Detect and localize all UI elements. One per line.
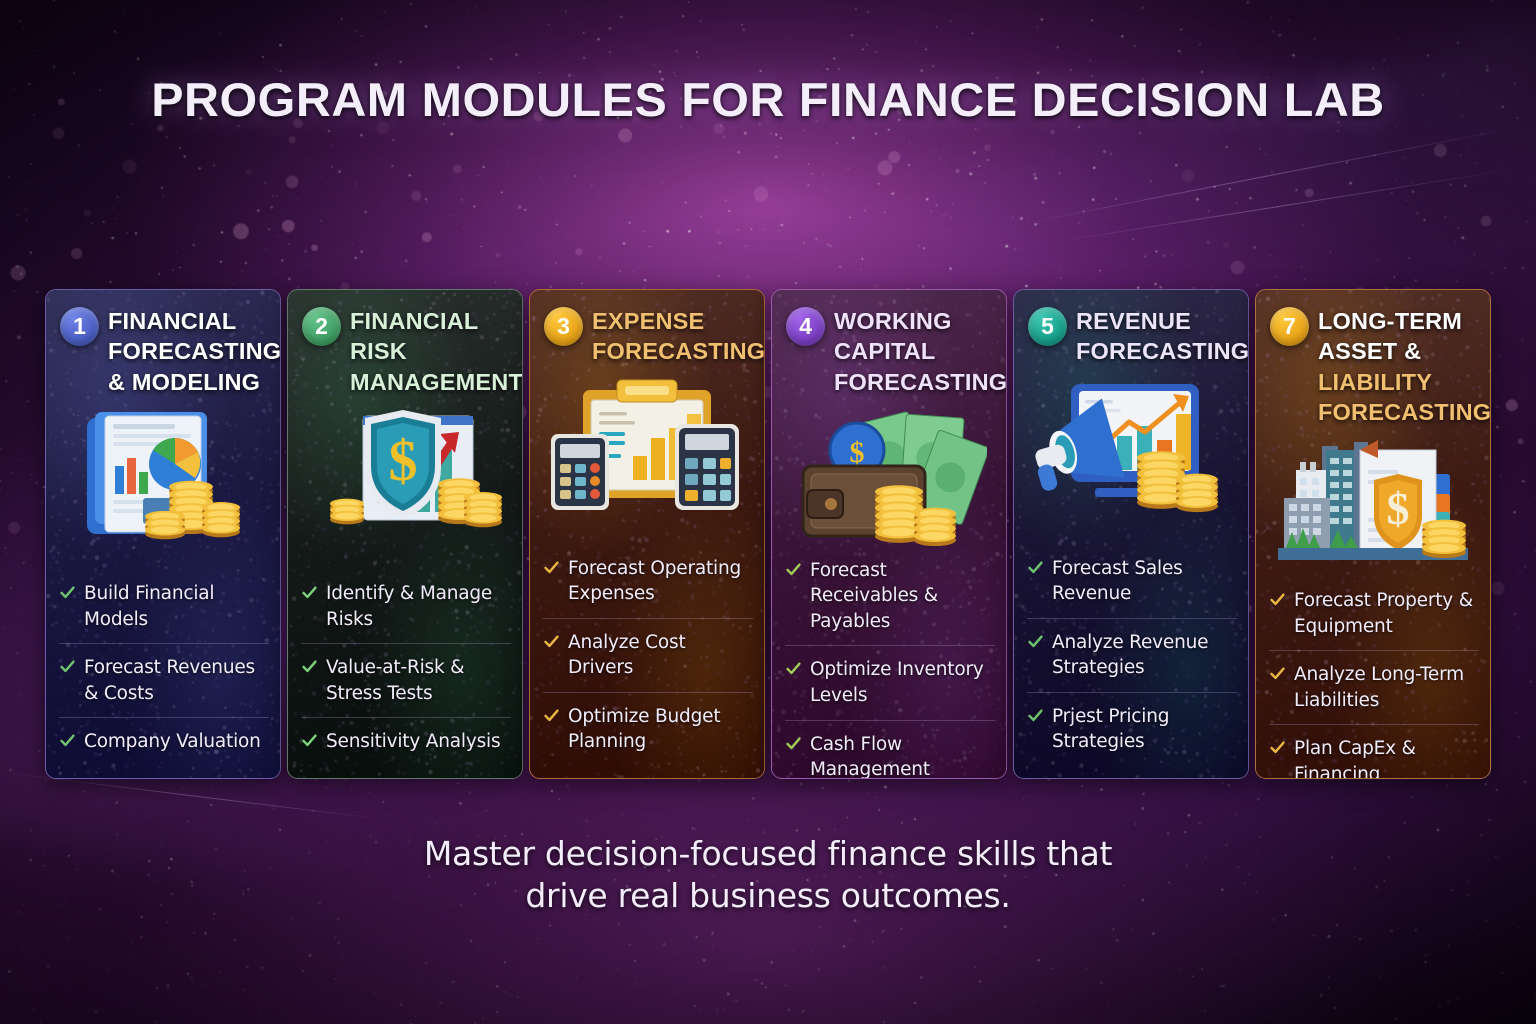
feature-label: Cash Flow Management <box>810 732 995 779</box>
card-title: WORKINGCAPITALFORECASTING <box>834 306 1007 397</box>
check-icon <box>1027 559 1044 576</box>
card-title-line-1: WORKING <box>834 306 1007 336</box>
feature-list-item: Build Financial Models <box>59 570 269 643</box>
footer-line-2: drive real business outcomes. <box>0 875 1536 917</box>
feature-label: Analyze Revenue Strategies <box>1052 630 1237 681</box>
card-title-line-2: FORECASTING <box>1076 336 1249 366</box>
feature-label: Analyze Long-Term Liabilities <box>1294 662 1479 713</box>
check-icon <box>1027 633 1044 650</box>
card-title-line-1: EXPENSE <box>592 306 765 336</box>
check-icon <box>785 735 802 752</box>
megaphone-monitor-coins-icon <box>1014 375 1248 517</box>
feature-list-item: Company Valuation <box>59 717 269 766</box>
module-number-badge: 4 <box>786 307 825 346</box>
card-title: LONG-TERMASSET &LIABILITYFORECASTING <box>1318 306 1491 427</box>
feature-list-item: Forecast Property & Equipment <box>1269 577 1479 650</box>
feature-list: Forecast Sales RevenueAnalyze Revenue St… <box>1014 545 1248 778</box>
card-content: 4WORKINGCAPITALFORECASTING $ Forecast Re <box>772 290 1006 778</box>
card-title-line-2: ASSET & <box>1318 336 1491 366</box>
card-title: EXPENSEFORECASTING <box>592 306 765 367</box>
module-card-3[interactable]: 3EXPENSEFORECASTING <box>529 289 765 779</box>
feature-list-item: Cash Flow Management <box>785 720 995 779</box>
feature-list-item: Identify & Manage Risks <box>301 570 511 643</box>
module-card-4[interactable]: 4WORKINGCAPITALFORECASTING $ Forecast Re <box>771 289 1007 779</box>
card-title-line-4: FORECASTING <box>1318 397 1491 427</box>
feature-label: Forecast Revenues & Costs <box>84 655 269 706</box>
check-icon <box>1269 665 1286 682</box>
card-content: 5REVENUEFORECASTING <box>1014 290 1248 778</box>
card-title-line-2: CAPITAL <box>834 336 1007 366</box>
module-number-badge: 1 <box>60 307 99 346</box>
card-title-line-2: RISK <box>350 336 523 366</box>
card-title-line-2: FORECASTING <box>592 336 765 366</box>
check-icon <box>785 660 802 677</box>
feature-list: Identify & Manage RisksValue-at-Risk & S… <box>288 570 522 778</box>
card-header: 7LONG-TERMASSET &LIABILITYFORECASTING <box>1256 290 1490 431</box>
feature-list: Forecast Receivables & PayablesOptimize … <box>772 547 1006 779</box>
feature-list: Forecast Operating ExpensesAnalyze Cost … <box>530 545 764 778</box>
feature-list-item: Forecast Receivables & Payables <box>785 547 995 646</box>
card-content: 1FINANCIALFORECASTING& MODELING Build Fi… <box>46 290 280 778</box>
module-number-badge: 2 <box>302 307 341 346</box>
check-icon <box>301 732 318 749</box>
card-title-line-3: & MODELING <box>108 367 281 397</box>
card-title-line-3: MANAGEMENT <box>350 367 523 397</box>
feature-list-item: Optimize Budget Planning <box>543 692 753 766</box>
feature-label: Forecast Receivables & Payables <box>810 558 995 635</box>
feature-list-item: Value-at-Risk & Stress Tests <box>301 643 511 717</box>
check-icon <box>59 732 76 749</box>
check-icon <box>785 561 802 578</box>
module-card-7[interactable]: 7LONG-TERMASSET &LIABILITYFORECASTING <box>1255 289 1491 779</box>
feature-list-item: Analyze Long-Term Liabilities <box>1269 650 1479 724</box>
card-title-line-3: LIABILITY <box>1318 367 1491 397</box>
card-title-line-1: LONG-TERM <box>1318 306 1491 336</box>
svg-text:$: $ <box>389 428 418 493</box>
card-header: 4WORKINGCAPITALFORECASTING <box>772 290 1006 401</box>
check-icon <box>1269 739 1286 756</box>
check-icon <box>59 584 76 601</box>
feature-label: Forecast Property & Equipment <box>1294 588 1479 639</box>
footer-line-1: Master decision-focused finance skills t… <box>0 833 1536 875</box>
check-icon <box>301 658 318 675</box>
feature-list-item: Forecast Operating Expenses <box>543 545 753 618</box>
card-header: 5REVENUEFORECASTING <box>1014 290 1248 371</box>
feature-label: Optimize Inventory Levels <box>810 657 995 708</box>
card-title-line-3: FORECASTING <box>834 367 1007 397</box>
module-card-2[interactable]: 2FINANCIALRISKMANAGEMENT $ Identify & Ma… <box>287 289 523 779</box>
card-title-line-1: REVENUE <box>1076 306 1249 336</box>
feature-list-item: Prjest Pricing Strategies <box>1027 692 1237 766</box>
feature-list-item: Forecast Sales Revenue <box>1027 545 1237 618</box>
module-number-badge: 3 <box>544 307 583 346</box>
wallet-cash-coins-icon: $ <box>772 405 1006 547</box>
feature-label: Company Valuation <box>84 729 261 755</box>
card-title: REVENUEFORECASTING <box>1076 306 1249 367</box>
check-icon <box>543 633 560 650</box>
buildings-deed-shield-icon: $ <box>1256 435 1490 577</box>
feature-list-item: Optimize Inventory Levels <box>785 645 995 719</box>
feature-list-item: Sensitivity Analysis <box>301 717 511 766</box>
shield-dollar-chart-icon: $ <box>288 405 522 547</box>
clipboard-calculators-icon <box>530 375 764 517</box>
feature-list: Forecast Property & EquipmentAnalyze Lon… <box>1256 577 1490 779</box>
module-cards-row: 1FINANCIALFORECASTING& MODELING Build Fi… <box>45 289 1491 779</box>
feature-label: Sensitivity Analysis <box>326 729 500 755</box>
card-content: 7LONG-TERMASSET &LIABILITYFORECASTING <box>1256 290 1490 778</box>
module-card-5[interactable]: 5REVENUEFORECASTING <box>1013 289 1249 779</box>
svg-text:$: $ <box>1387 483 1410 534</box>
card-title: FINANCIALFORECASTING& MODELING <box>108 306 281 397</box>
feature-label: Plan CapEx & Financing <box>1294 736 1479 779</box>
card-title-line-1: FINANCIAL <box>350 306 523 336</box>
feature-label: Analyze Cost Drivers <box>568 630 753 681</box>
page-title: PROGRAM MODULES FOR FINANCE DECISION LAB <box>0 72 1536 127</box>
card-content: 3EXPENSEFORECASTING <box>530 290 764 778</box>
feature-list-item: Analyze Cost Drivers <box>543 618 753 692</box>
module-number-badge: 5 <box>1028 307 1067 346</box>
feature-label: Forecast Sales Revenue <box>1052 556 1237 607</box>
card-header: 2FINANCIALRISKMANAGEMENT <box>288 290 522 401</box>
card-title: FINANCIALRISKMANAGEMENT <box>350 306 523 397</box>
feature-label: Identify & Manage Risks <box>326 581 511 632</box>
check-icon <box>1027 707 1044 724</box>
check-icon <box>59 658 76 675</box>
feature-list-item: Analyze Revenue Strategies <box>1027 618 1237 692</box>
module-number-badge: 7 <box>1270 307 1309 346</box>
check-icon <box>1269 591 1286 608</box>
feature-label: Value-at-Risk & Stress Tests <box>326 655 511 706</box>
card-title-line-2: FORECASTING <box>108 336 281 366</box>
check-icon <box>543 559 560 576</box>
svg-text:$: $ <box>850 436 865 469</box>
footer-tagline: Master decision-focused finance skills t… <box>0 833 1536 917</box>
card-header: 1FINANCIALFORECASTING& MODELING <box>46 290 280 401</box>
module-card-1[interactable]: 1FINANCIALFORECASTING& MODELING Build Fi… <box>45 289 281 779</box>
card-content: 2FINANCIALRISKMANAGEMENT $ Identify & Ma… <box>288 290 522 778</box>
feature-list-item: Forecast Revenues & Costs <box>59 643 269 717</box>
check-icon <box>543 707 560 724</box>
feature-label: Prjest Pricing Strategies <box>1052 704 1237 755</box>
feature-label: Forecast Operating Expenses <box>568 556 753 607</box>
feature-label: Optimize Budget Planning <box>568 704 753 755</box>
feature-list-item: Plan CapEx & Financing <box>1269 724 1479 779</box>
card-title-line-1: FINANCIAL <box>108 306 281 336</box>
feature-list: Build Financial ModelsForecast Revenues … <box>46 570 280 778</box>
check-icon <box>301 584 318 601</box>
document-chart-coins-icon <box>46 405 280 547</box>
feature-label: Build Financial Models <box>84 581 269 632</box>
card-header: 3EXPENSEFORECASTING <box>530 290 764 371</box>
